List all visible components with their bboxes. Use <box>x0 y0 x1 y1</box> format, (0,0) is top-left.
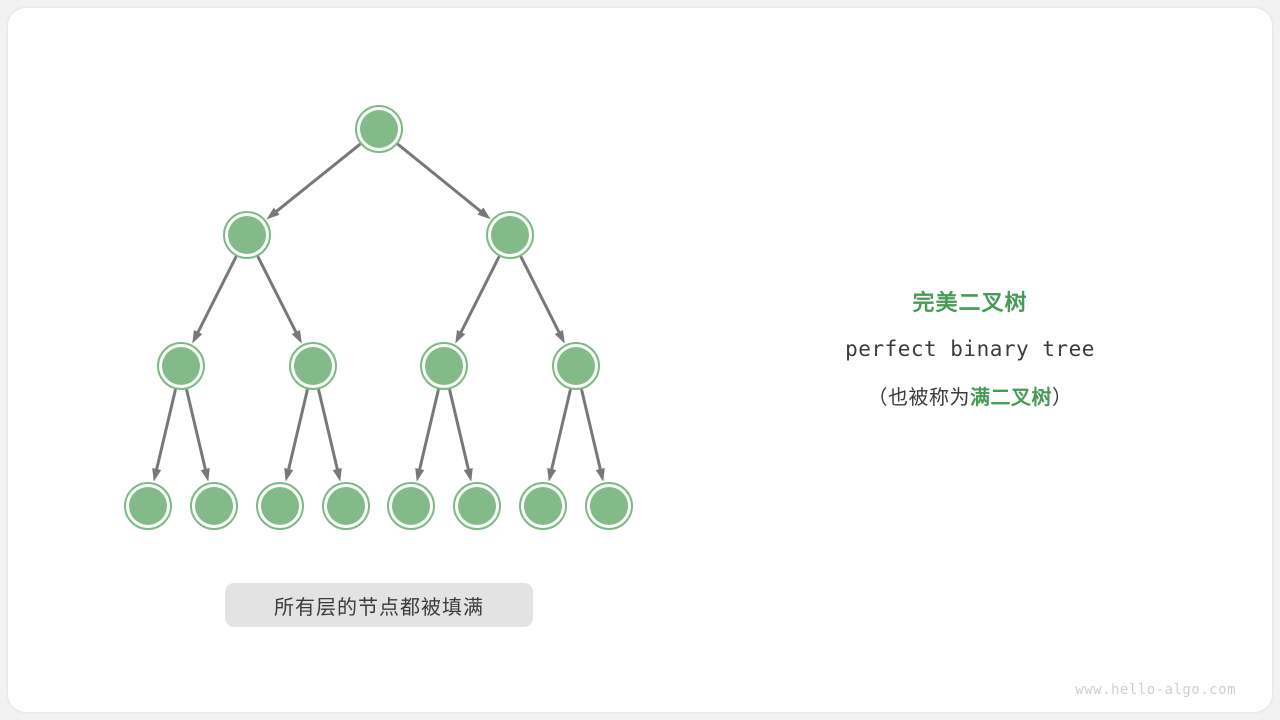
tree-edge <box>187 390 206 472</box>
edge-arrowhead <box>292 330 302 344</box>
tree-node[interactable] <box>323 483 369 529</box>
tree-node[interactable] <box>191 483 237 529</box>
edge-arrowhead <box>464 468 473 482</box>
tree-node[interactable] <box>356 106 402 152</box>
tree-node[interactable] <box>290 343 336 389</box>
tree-edge <box>258 257 297 334</box>
tree-edge <box>521 257 560 334</box>
edge-arrowhead <box>284 468 293 482</box>
legend-alias-suffix: ） <box>1052 385 1073 409</box>
node-fill <box>294 347 332 385</box>
edge-arrowhead <box>333 468 342 482</box>
tree-edge <box>419 390 438 472</box>
tree-node[interactable] <box>388 483 434 529</box>
tree-edge <box>582 390 601 472</box>
node-fill <box>261 487 299 525</box>
node-fill <box>524 487 562 525</box>
watermark-label: www.hello-algo.com <box>1075 682 1236 698</box>
legend-title: 完美二叉树 <box>790 292 1150 316</box>
tree-node[interactable] <box>586 483 632 529</box>
tree-node[interactable] <box>224 212 270 258</box>
edge-arrowhead <box>201 468 210 482</box>
tree-edge <box>288 390 307 472</box>
edge-arrowhead <box>555 330 565 344</box>
edge-arrowhead <box>192 330 202 344</box>
tree-edge <box>274 145 359 213</box>
edge-arrowhead <box>455 330 465 344</box>
legend-block: 完美二叉树 perfect binary tree （也被称为满二叉树） <box>790 292 1150 410</box>
node-fill <box>327 487 365 525</box>
node-fill <box>360 110 398 148</box>
tree-node[interactable] <box>520 483 566 529</box>
tree-node[interactable] <box>553 343 599 389</box>
node-fill <box>458 487 496 525</box>
edge-arrowhead <box>596 468 605 482</box>
node-fill <box>392 487 430 525</box>
node-fill <box>557 347 595 385</box>
caption-label: 所有层的节点都被填满 <box>274 591 484 620</box>
tree-edge <box>319 390 338 472</box>
tree-node[interactable] <box>257 483 303 529</box>
tree-edge <box>460 257 499 334</box>
legend-alias: （也被称为满二叉树） <box>790 381 1150 410</box>
tree-node[interactable] <box>454 483 500 529</box>
tree-edge <box>450 390 469 472</box>
node-fill <box>129 487 167 525</box>
legend-subtitle: perfect binary tree <box>790 337 1150 361</box>
page-root: 所有层的节点都被填满 完美二叉树 perfect binary tree （也被… <box>0 0 1280 720</box>
node-fill <box>590 487 628 525</box>
node-fill <box>491 216 529 254</box>
tree-edges <box>152 145 605 482</box>
tree-edge <box>551 390 570 472</box>
node-fill <box>425 347 463 385</box>
tree-node[interactable] <box>487 212 533 258</box>
tree-node[interactable] <box>158 343 204 389</box>
legend-alias-strong: 满二叉树 <box>970 385 1052 409</box>
legend-alias-prefix: （也被称为 <box>868 385 971 409</box>
tree-edge <box>156 390 175 472</box>
caption-badge: 所有层的节点都被填满 <box>225 583 533 627</box>
edge-arrowhead <box>152 468 161 482</box>
tree-node[interactable] <box>421 343 467 389</box>
edge-arrowhead <box>547 468 556 482</box>
tree-node[interactable] <box>125 483 171 529</box>
node-fill <box>228 216 266 254</box>
node-fill <box>195 487 233 525</box>
tree-edge <box>197 257 236 334</box>
tree-edge <box>398 145 482 213</box>
edge-arrowhead <box>415 468 424 482</box>
tree-nodes <box>125 106 632 529</box>
node-fill <box>162 347 200 385</box>
